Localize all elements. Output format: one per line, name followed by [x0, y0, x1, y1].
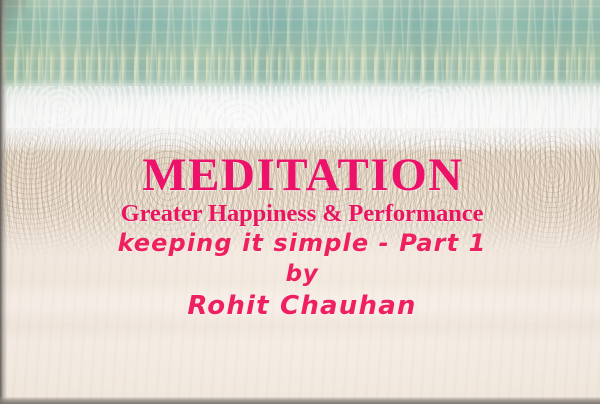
- slide-tagline: keeping it simple - Part 1: [0, 228, 600, 259]
- bottom-edge-shadow: [0, 397, 600, 404]
- left-edge-shadow: [0, 0, 7, 404]
- title-text-block: MEDITATION Greater Happiness & Performan…: [0, 150, 600, 323]
- slide-subheading: Greater Happiness & Performance: [0, 200, 600, 228]
- title-slide: MEDITATION Greater Happiness & Performan…: [0, 0, 600, 404]
- byline-label: by: [0, 259, 600, 289]
- slide-heading: MEDITATION: [0, 150, 600, 200]
- corner-shadow: [0, 0, 26, 34]
- author-name: Rohit Chauhan: [0, 289, 600, 323]
